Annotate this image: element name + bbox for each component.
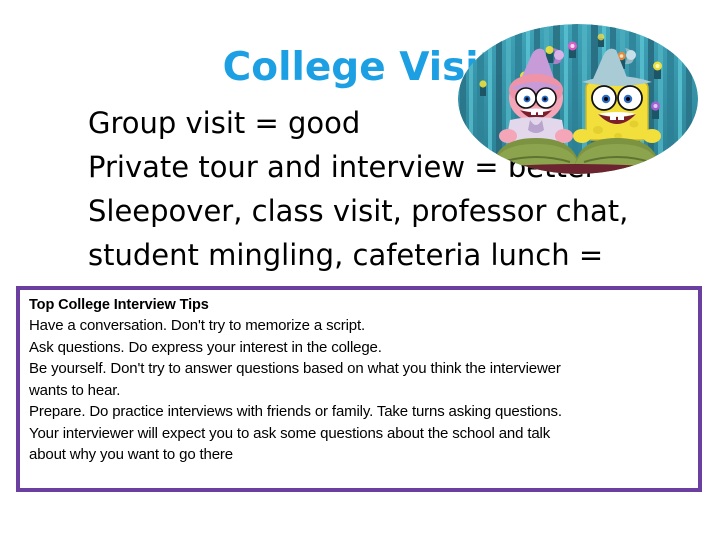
body-line: student mingling, cafeteria lunch =: [88, 233, 668, 277]
tips-box: Top College Interview Tips Have a conver…: [16, 286, 702, 492]
tips-heading: Top College Interview Tips: [29, 295, 698, 315]
tips-box-content: Top College Interview Tips Have a conver…: [20, 290, 698, 466]
tips-line: about why you want to go there: [29, 444, 698, 466]
tips-list: Have a conversation. Don't try to memori…: [29, 315, 698, 466]
tips-line: Ask questions. Do express your interest …: [29, 337, 698, 359]
sleepover-image: [458, 24, 698, 174]
tips-line: Be yourself. Don't try to answer questio…: [29, 358, 698, 380]
tips-line: Have a conversation. Don't try to memori…: [29, 315, 698, 337]
body-line: Sleepover, class visit, professor chat,: [88, 189, 668, 233]
tips-line: Your interviewer will expect you to ask …: [29, 423, 698, 445]
slide-canvas: College Visit Group visit = good Private…: [0, 0, 720, 540]
tips-line: Prepare. Do practice interviews with fri…: [29, 401, 698, 423]
tips-line: wants to hear.: [29, 380, 698, 402]
